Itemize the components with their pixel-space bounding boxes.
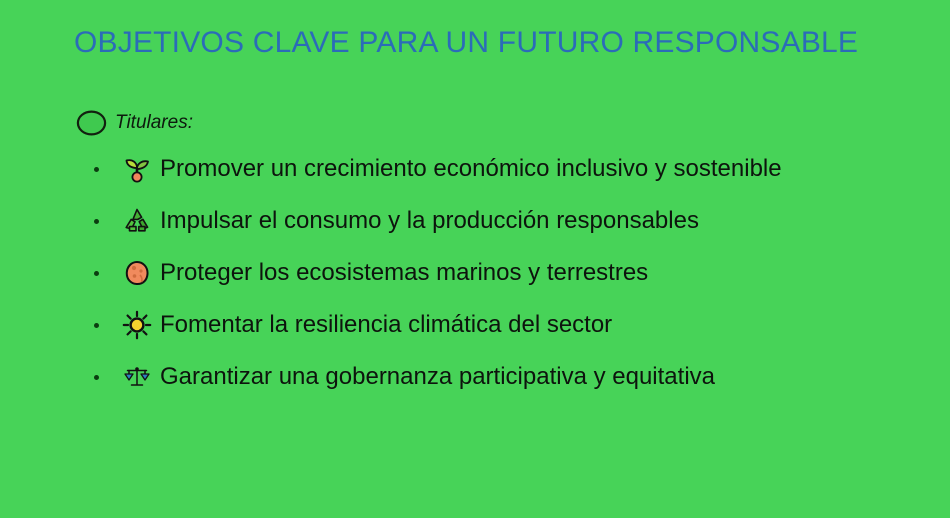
headline-label: Titulares: [115,112,193,134]
bullet-dot-icon [94,271,99,276]
bullet-list: Promover un crecimiento económico inclus… [92,150,932,410]
list-item-text: Impulsar el consumo y la producción resp… [160,202,699,240]
list-item: Promover un crecimiento económico inclus… [92,150,932,188]
list-item-text: Promover un crecimiento económico inclus… [160,150,782,188]
page-title: OBJETIVOS CLAVE PARA UN FUTURO RESPONSAB… [74,26,858,60]
bullet-dot-icon [94,167,99,172]
recycling-icon [120,204,154,238]
headline-row: Titulares: [76,110,193,136]
list-item: Fomentar la resiliencia climática del se… [92,306,932,344]
list-item: Impulsar el consumo y la producción resp… [92,202,932,240]
list-item-text: Proteger los ecosistemas marinos y terre… [160,254,648,292]
coral-icon [120,256,154,290]
list-item: Proteger los ecosistemas marinos y terre… [92,254,932,292]
bullet-dot-icon [94,375,99,380]
bullet-dot-icon [94,219,99,224]
slide-canvas: OBJETIVOS CLAVE PARA UN FUTURO RESPONSAB… [0,0,950,518]
balance-scale-icon [120,360,154,394]
list-item-text: Fomentar la resiliencia climática del se… [160,306,612,344]
list-item-text: Garantizar una gobernanza participativa … [160,358,715,396]
list-item: Garantizar una gobernanza participativa … [92,358,932,396]
green-circle-icon [76,110,107,136]
bullet-dot-icon [94,323,99,328]
seedling-icon [120,152,154,186]
sun-icon [120,308,154,342]
